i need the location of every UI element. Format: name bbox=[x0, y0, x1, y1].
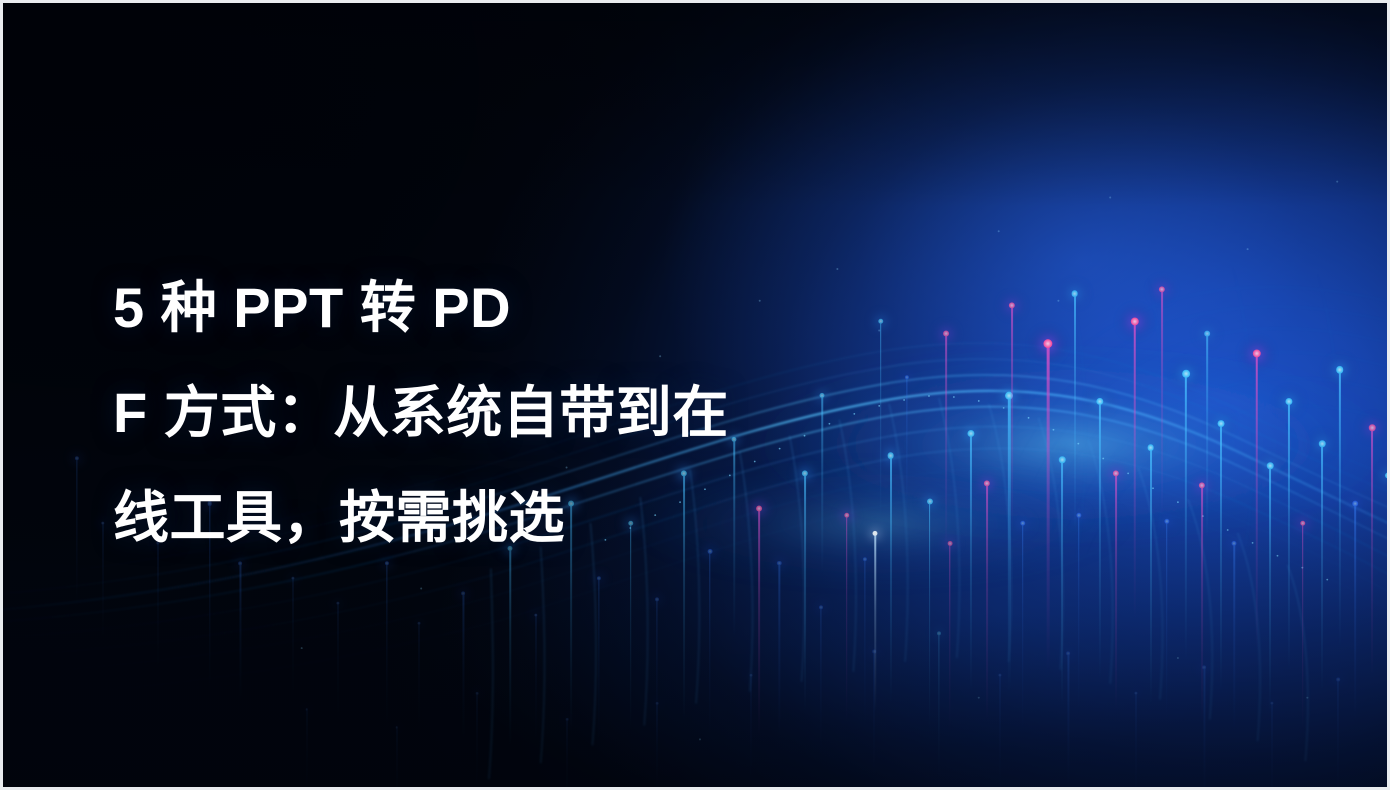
beam-head bbox=[1182, 370, 1190, 378]
beam-head bbox=[1267, 462, 1274, 469]
beam-tail bbox=[463, 593, 464, 743]
beam-tail bbox=[76, 458, 77, 608]
beam-tail bbox=[240, 563, 241, 703]
beam-tail bbox=[1166, 521, 1168, 721]
beam-head bbox=[1067, 651, 1071, 655]
light-beam bbox=[1295, 523, 1311, 733]
beam-tail bbox=[946, 333, 948, 553]
beam-tail bbox=[986, 483, 988, 723]
beam-tail bbox=[1098, 401, 1100, 681]
beam-tail bbox=[1206, 333, 1208, 543]
beam-head bbox=[1203, 665, 1207, 669]
beam-tail bbox=[337, 603, 338, 723]
light-beam bbox=[303, 709, 310, 790]
beam-tail bbox=[1288, 401, 1290, 671]
beam-tail bbox=[880, 321, 882, 521]
beam-head bbox=[873, 531, 878, 536]
beam-tail bbox=[1387, 475, 1389, 705]
light-beam bbox=[593, 578, 605, 748]
beam-tail bbox=[1338, 679, 1339, 790]
beam-tail bbox=[1220, 423, 1222, 693]
beam-head bbox=[1385, 472, 1390, 478]
beam-tail bbox=[386, 563, 387, 733]
beam-tail bbox=[509, 548, 510, 748]
beam-head bbox=[1217, 420, 1224, 427]
light-beam bbox=[1131, 693, 1140, 790]
light-beam bbox=[1199, 667, 1210, 790]
beam-tail bbox=[1185, 373, 1187, 663]
light-beam bbox=[1159, 521, 1174, 721]
beam-head bbox=[1071, 290, 1078, 297]
beam-head bbox=[1336, 678, 1340, 682]
beam-tail bbox=[820, 607, 821, 757]
beam-tail bbox=[1161, 289, 1163, 519]
beam-tail bbox=[306, 709, 307, 790]
beam-tail bbox=[292, 578, 293, 698]
light-beam bbox=[773, 563, 786, 743]
light-beam bbox=[703, 551, 717, 741]
light-beam bbox=[933, 633, 944, 783]
light-beam bbox=[381, 563, 393, 733]
light-beam bbox=[1065, 293, 1084, 533]
beam-head bbox=[750, 674, 753, 677]
beam-tail bbox=[1074, 293, 1076, 533]
light-beam bbox=[71, 458, 83, 608]
light-beam bbox=[873, 321, 889, 521]
beam-tail bbox=[949, 543, 950, 733]
beam-tail bbox=[656, 703, 657, 790]
light-beam bbox=[1379, 475, 1390, 705]
beam-head bbox=[462, 591, 466, 595]
title-line-3: 线工具，按需挑选 bbox=[113, 465, 873, 570]
light-beam bbox=[943, 543, 957, 733]
light-beam bbox=[503, 548, 517, 748]
beam-head bbox=[819, 605, 823, 609]
beam-tail bbox=[709, 551, 710, 741]
beam-head bbox=[395, 726, 398, 729]
beam-head bbox=[656, 702, 659, 705]
light-beam bbox=[531, 615, 541, 745]
beam-tail bbox=[906, 377, 907, 527]
beam-tail bbox=[1022, 523, 1024, 733]
light-beam bbox=[1003, 305, 1021, 535]
beam-tail bbox=[1150, 447, 1152, 707]
beam-head bbox=[655, 597, 659, 601]
beam-tail bbox=[890, 455, 892, 705]
beam-tail bbox=[938, 633, 939, 783]
beam-tail bbox=[1302, 523, 1304, 733]
beam-tail bbox=[535, 615, 536, 745]
light-beam bbox=[458, 593, 469, 743]
light-beam bbox=[473, 693, 481, 790]
light-beam bbox=[978, 483, 996, 723]
light-beam bbox=[901, 377, 913, 527]
light-beam bbox=[1347, 503, 1363, 723]
beam-tail bbox=[1011, 305, 1013, 535]
light-beam bbox=[1199, 333, 1215, 543]
beam-head bbox=[1204, 331, 1210, 337]
beam-head bbox=[476, 692, 479, 695]
beam-tail bbox=[1321, 443, 1323, 693]
beam-tail bbox=[1134, 321, 1136, 621]
beam-tail bbox=[1354, 503, 1356, 723]
beam-tail bbox=[1135, 693, 1136, 790]
beam-tail bbox=[1233, 543, 1234, 733]
beam-head bbox=[1319, 440, 1326, 447]
beam-tail bbox=[598, 578, 599, 748]
light-beam bbox=[98, 523, 108, 643]
light-beam bbox=[995, 675, 1004, 790]
light-beam bbox=[393, 727, 400, 790]
light-beam bbox=[653, 703, 661, 790]
beam-tail bbox=[1047, 343, 1050, 673]
light-beam bbox=[415, 623, 423, 733]
light-beam bbox=[235, 563, 246, 703]
beam-tail bbox=[1115, 473, 1117, 713]
beam-tail bbox=[1269, 465, 1271, 715]
beam-head bbox=[1232, 541, 1237, 546]
light-beam bbox=[1261, 465, 1280, 715]
beam-head bbox=[1352, 501, 1358, 507]
light-beam bbox=[333, 603, 342, 723]
beam-tail bbox=[1068, 653, 1069, 790]
beam-tail bbox=[396, 727, 397, 790]
beam-tail bbox=[1256, 353, 1258, 653]
beam-tail bbox=[1339, 369, 1341, 649]
beam-head bbox=[943, 331, 949, 337]
beam-tail bbox=[929, 501, 931, 731]
beam-tail bbox=[970, 433, 972, 693]
light-beam bbox=[1227, 543, 1241, 733]
beam-head bbox=[1369, 424, 1376, 431]
beam-tail bbox=[864, 559, 865, 729]
light-beam bbox=[1015, 523, 1031, 733]
beam-tail bbox=[751, 675, 752, 785]
beam-head bbox=[566, 718, 569, 721]
slide-title: 5 种 PPT 转 PD F 方式：从系统自带到在 线工具，按需挑选 bbox=[113, 255, 873, 570]
beam-tail bbox=[1078, 515, 1080, 715]
light-beam bbox=[1267, 703, 1276, 790]
light-beam bbox=[563, 719, 571, 790]
beam-head bbox=[1336, 366, 1344, 374]
light-beam bbox=[1153, 289, 1171, 519]
beam-tail bbox=[1271, 703, 1272, 790]
beam-tail bbox=[1204, 667, 1205, 790]
beam-tail bbox=[102, 523, 103, 643]
beam-tail bbox=[566, 719, 567, 790]
beam-tail bbox=[1371, 427, 1373, 677]
beam-head bbox=[937, 631, 941, 635]
light-beam bbox=[1333, 679, 1343, 790]
beam-head bbox=[418, 622, 421, 625]
beam-head bbox=[305, 708, 308, 711]
presentation-slide: 5 种 PPT 转 PD F 方式：从系统自带到在 线工具，按需挑选 bbox=[0, 0, 1390, 790]
light-beam bbox=[1063, 653, 1074, 790]
light-beam bbox=[815, 607, 826, 757]
beam-tail bbox=[874, 533, 875, 713]
beam-tail bbox=[779, 563, 780, 743]
beam-tail bbox=[476, 693, 477, 790]
beam-tail bbox=[419, 623, 420, 733]
light-beam bbox=[288, 578, 297, 698]
title-line-1: 5 种 PPT 转 PD bbox=[113, 255, 873, 360]
light-beam bbox=[938, 333, 955, 553]
light-beam bbox=[747, 675, 755, 785]
beam-tail bbox=[999, 675, 1000, 790]
title-line-2: F 方式：从系统自带到在 bbox=[113, 360, 873, 465]
